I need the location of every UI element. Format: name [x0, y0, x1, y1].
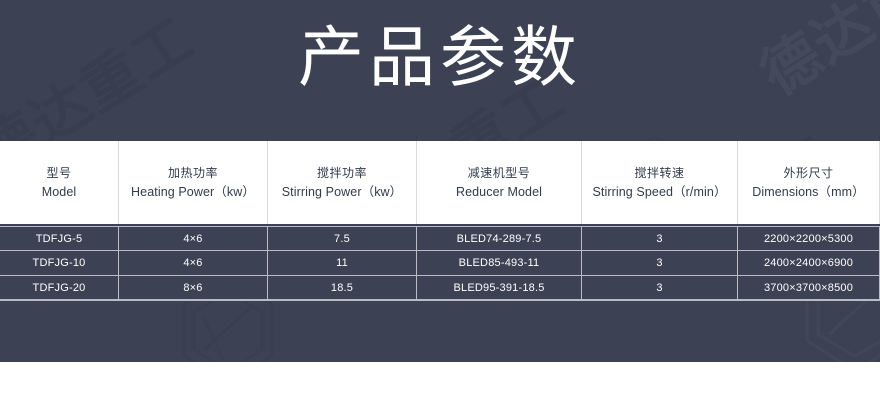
- cell-stirring-power: 18.5: [268, 276, 417, 299]
- column-header-reducer-model: 减速机型号 Reducer Model: [417, 141, 582, 224]
- cell-stirring-power: 11: [268, 251, 417, 275]
- cell-reducer-model: BLED85-493-11: [417, 251, 582, 275]
- cell-dimensions: 2200×2200×5300: [738, 227, 880, 250]
- column-header-dimensions: 外形尺寸 Dimensions（mm）: [738, 141, 880, 224]
- table-row: TDFJG-20 8×6 18.5 BLED95-391-18.5 3 3700…: [0, 276, 880, 301]
- cell-model: TDFJG-20: [0, 276, 119, 299]
- cell-heating-power: 4×6: [119, 227, 268, 250]
- table-row: TDFJG-10 4×6 11 BLED85-493-11 3 2400×240…: [0, 251, 880, 276]
- column-header-heating-power: 加热功率 Heating Power（kw）: [119, 141, 268, 224]
- column-header-model: 型号 Model: [0, 141, 119, 224]
- cell-stirring-speed: 3: [582, 227, 738, 250]
- cell-dimensions: 3700×3700×8500: [738, 276, 880, 299]
- table-row: TDFJG-5 4×6 7.5 BLED74-289-7.5 3 2200×22…: [0, 226, 880, 251]
- cell-heating-power: 8×6: [119, 276, 268, 299]
- dark-panel: 德达重工 德达重工 德达重工 德达重工 产品参数: [0, 0, 880, 362]
- cell-heating-power: 4×6: [119, 251, 268, 275]
- cell-model: TDFJG-5: [0, 227, 119, 250]
- cell-stirring-speed: 3: [582, 251, 738, 275]
- cell-reducer-model: BLED74-289-7.5: [417, 227, 582, 250]
- cell-stirring-speed: 3: [582, 276, 738, 299]
- cell-model: TDFJG-10: [0, 251, 119, 275]
- product-parameters-page: 德达重工 德达重工 德达重工 德达重工 产品参数: [0, 0, 880, 402]
- column-header-stirring-power: 搅拌功率 Stirring Power（kw）: [268, 141, 417, 224]
- column-header-stirring-speed: 搅拌转速 Stirring Speed（r/min）: [582, 141, 738, 224]
- cell-reducer-model: BLED95-391-18.5: [417, 276, 582, 299]
- table-header-row: 型号 Model 加热功率 Heating Power（kw） 搅拌功率 Sti…: [0, 141, 880, 226]
- cell-stirring-power: 7.5: [268, 227, 417, 250]
- spec-table: 型号 Model 加热功率 Heating Power（kw） 搅拌功率 Sti…: [0, 141, 880, 301]
- page-title: 产品参数: [0, 16, 880, 100]
- cell-dimensions: 2400×2400×6900: [738, 251, 880, 275]
